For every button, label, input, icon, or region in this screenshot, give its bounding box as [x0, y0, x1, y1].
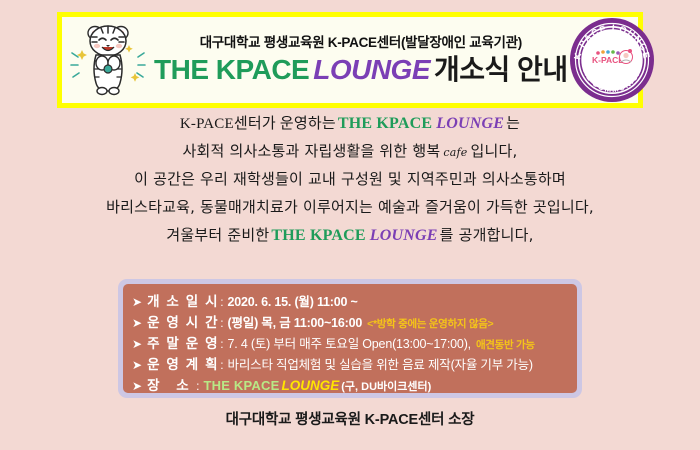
detail-colon: :: [195, 379, 203, 393]
body-line-2-pre: 사회적 의사소통과 자립생활을 위한 행복: [183, 142, 441, 160]
detail-row-open-date: ➤ 개 소 일 시 : 2020. 6. 15. (월) 11:00 ~: [132, 290, 571, 311]
body-line-1-lounge: LOUNGE: [434, 115, 506, 132]
detail-label-location: 장 소: [147, 374, 195, 394]
header-banner: 대구대학교 평생교육원 K-PACE센터(발달장애인 교육기관) THE KPA…: [57, 12, 643, 108]
detail-value-open-date: 2020. 6. 15. (월) 11:00 ~: [228, 291, 358, 310]
body-line-1-pre: K-PACE센터가 운영하는: [180, 116, 336, 132]
arrow-right-icon: ➤: [132, 317, 147, 329]
body-line-4: 바리스타교육, 동물매개치료가 이루어지는 예술과 즐거움이 가득한 곳입니다,: [0, 200, 700, 228]
detail-label-plan: 운 영 계 획: [147, 353, 219, 373]
detail-row-location: ➤ 장 소 : THE KPACE LOUNGE (구, DU바이크센터): [132, 374, 571, 395]
detail-label-open-date: 개 소 일 시: [147, 290, 219, 310]
banner-title-lounge: LOUNGE: [309, 54, 434, 85]
body-line-5-lounge: LOUNGE: [368, 227, 440, 244]
detail-colon: :: [219, 316, 227, 330]
detail-row-plan: ➤ 운 영 계 획 : 바리스타 직업체험 및 실습을 위한 음료 제작(자율 …: [132, 353, 571, 374]
detail-note-pets: 애견동반 가능: [471, 337, 535, 352]
detail-value-plan: 바리스타 직업체험 및 실습을 위한 음료 제작(자율 기부 가능): [228, 354, 533, 373]
detail-colon: :: [219, 337, 227, 351]
detail-label-weekend: 주 말 운 영: [147, 332, 219, 352]
body-line-5-kpace: THE KPACE: [269, 227, 367, 244]
detail-value-location-former: (구, DU바이크센터): [341, 378, 431, 394]
body-paragraph: K-PACE센터가 운영하는THE KPACELOUNGE는 사회적 의사소통과…: [0, 116, 700, 256]
body-line-5: 겨울부터 준비한THE KPACELOUNGE를 공개합니다,: [0, 228, 700, 256]
detail-colon: :: [219, 358, 227, 372]
detail-row-weekend: ➤ 주 말 운 영 : 7. 4 (토) 부터 매주 토요일 Open(13:0…: [132, 332, 571, 353]
body-line-3: 이 공간은 우리 재학생들이 교내 구성원 및 지역주민과 의사소통하며: [0, 172, 700, 200]
arrow-right-icon: ➤: [132, 380, 147, 392]
arrow-right-icon: ➤: [132, 296, 147, 308]
tiger-mascot-icon: [66, 17, 150, 103]
detail-value-location-lounge: LOUNGE: [279, 378, 341, 393]
body-line-5-post: 를 공개합니다,: [440, 226, 534, 244]
detail-colon: :: [219, 295, 227, 309]
body-line-2-cafe: cafe: [440, 146, 470, 159]
banner-title-korean: 개소식 안내: [434, 54, 568, 85]
detail-value-weekend: 7. 4 (토) 부터 매주 토요일 Open(13:00~17:00),: [228, 333, 471, 352]
body-line-1-kpace: THE KPACE: [336, 115, 434, 132]
kpace-lounge-logo: K-PACE LOUNGE SOCIAL COMMUNICATION K-PAC…: [568, 16, 656, 104]
arrow-right-icon: ➤: [132, 338, 147, 350]
banner-subtitle: 대구대학교 평생교육원 K-PACE센터(발달장애인 교육기관): [154, 35, 568, 51]
body-line-5-pre: 겨울부터 준비한: [166, 226, 269, 244]
event-details-inner: ➤ 개 소 일 시 : 2020. 6. 15. (월) 11:00 ~ ➤ 운…: [123, 284, 577, 393]
event-details-box: ➤ 개 소 일 시 : 2020. 6. 15. (월) 11:00 ~ ➤ 운…: [118, 279, 582, 398]
banner-title-kpace: THE KPACE: [154, 54, 309, 85]
body-line-2-post: 입니다,: [471, 142, 518, 160]
arrow-right-icon: ➤: [132, 359, 147, 371]
body-line-1-post: 는: [506, 114, 520, 132]
footer-signature: 대구대학교 평생교육원 K-PACE센터 소장: [0, 408, 700, 429]
banner-text-block: 대구대학교 평생교육원 K-PACE센터(발달장애인 교육기관) THE KPA…: [150, 35, 568, 85]
detail-value-hours: (평일) 목, 금 11:00~16:00: [228, 312, 363, 331]
detail-label-hours: 운 영 시 간: [147, 311, 219, 331]
body-line-2: 사회적 의사소통과 자립생활을 위한 행복cafe입니다,: [0, 144, 700, 172]
body-line-1: K-PACE센터가 운영하는THE KPACELOUNGE는: [0, 116, 700, 144]
detail-value-location-kpace: THE KPACE: [204, 378, 280, 393]
detail-note-vacation: <*방학 중에는 운영하지 않음>: [362, 316, 493, 331]
banner-title: THE KPACELOUNGE개소식 안내: [154, 55, 568, 84]
detail-row-hours: ➤ 운 영 시 간 : (평일) 목, 금 11:00~16:00 <*방학 중…: [132, 311, 571, 332]
